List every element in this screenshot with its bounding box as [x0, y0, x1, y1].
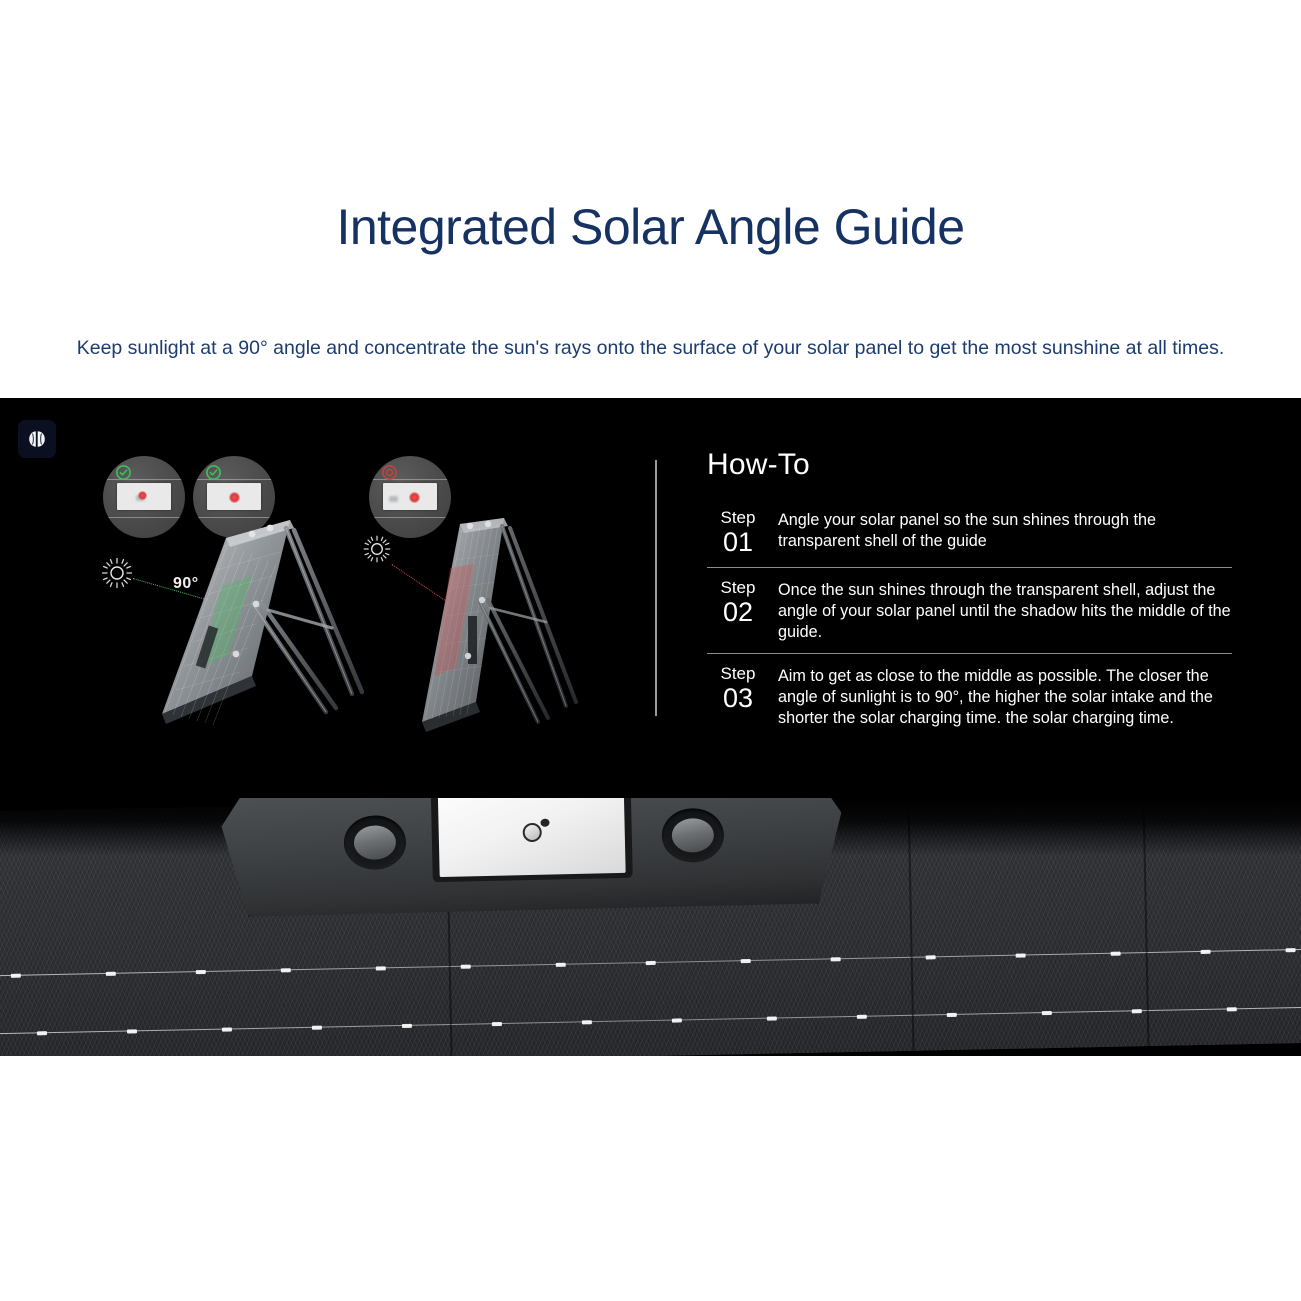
indicator-sun-dot [229, 492, 240, 503]
instruction-panel: 90° [0, 398, 1301, 798]
panel-busbar [0, 949, 1301, 977]
howto-step-01: Step 01 Angle your solar panel so the su… [707, 498, 1232, 568]
step-label: Step [707, 578, 769, 597]
page-footer-space [0, 1056, 1301, 1301]
device-grommet-left [343, 815, 406, 870]
indicator-window [207, 483, 261, 510]
error-icon [381, 464, 398, 481]
howto-title: How-To [707, 446, 1232, 484]
step-label: Step [707, 664, 769, 683]
device-body [220, 798, 843, 917]
product-photo [0, 798, 1301, 1056]
check-icon [115, 464, 132, 481]
step-label: Step [707, 508, 769, 527]
solar-angle-guide-device [220, 798, 843, 931]
sun-icon [100, 556, 134, 595]
sun-icon [362, 534, 392, 569]
step-number: 02 [707, 597, 769, 627]
step-description: Aim to get as close to the middle as pos… [769, 663, 1232, 729]
step-number-block: Step 02 [707, 577, 769, 627]
indicator-window [383, 483, 437, 510]
device-center-marker-icon [523, 823, 542, 842]
howto-step-02: Step 02 Once the sun shines through the … [707, 568, 1232, 654]
device-shadow-dot [540, 819, 549, 827]
angle-guide-illustration: 90° [0, 398, 655, 798]
indicator-sun-dot [138, 491, 147, 500]
device-window-face [438, 798, 626, 877]
solar-panel-correct-angle [140, 516, 390, 746]
page-header: Integrated Solar Angle Guide Keep sunlig… [0, 0, 1301, 398]
panel-busbar [0, 1007, 1301, 1035]
page-subtitle: Keep sunlight at a 90° angle and concent… [0, 334, 1301, 362]
page-title: Integrated Solar Angle Guide [0, 196, 1301, 258]
howto-step-03: Step 03 Aim to get as close to the middl… [707, 654, 1232, 739]
step-number: 03 [707, 683, 769, 713]
indicator-shadow [389, 496, 398, 502]
indicator-sun-dot [409, 492, 420, 503]
step-description: Once the sun shines through the transpar… [769, 577, 1232, 643]
device-transparent-window [431, 798, 633, 882]
step-number-block: Step 01 [707, 507, 769, 557]
step-number: 01 [707, 527, 769, 557]
step-description: Angle your solar panel so the sun shines… [769, 507, 1232, 552]
section-divider [655, 460, 657, 716]
step-number-block: Step 03 [707, 663, 769, 713]
howto-section: How-To Step 01 Angle your solar panel so… [707, 446, 1232, 739]
indicator-window [117, 483, 171, 510]
solar-panel-incorrect-angle [398, 516, 648, 746]
device-grommet-right [661, 808, 724, 863]
check-icon [205, 464, 222, 481]
